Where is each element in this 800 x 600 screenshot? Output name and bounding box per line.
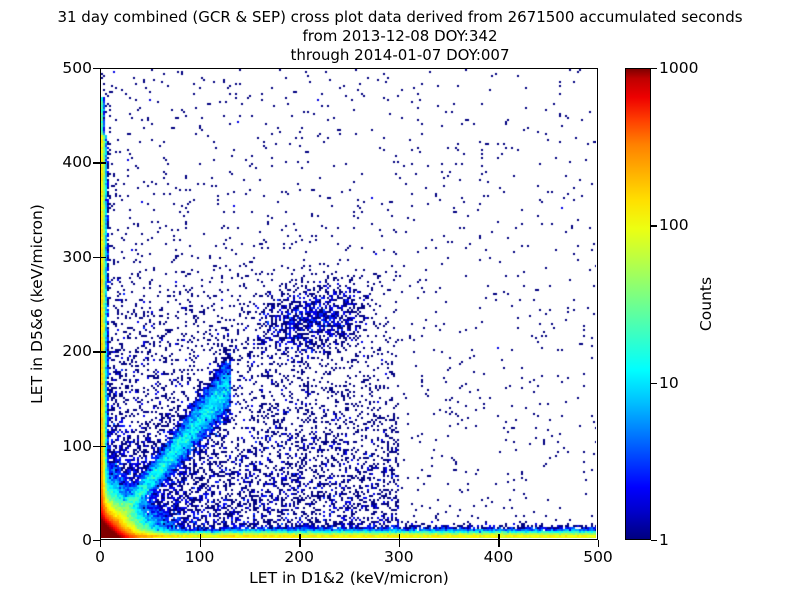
colorbar-tick-1 (651, 540, 657, 541)
y-tick-inner-300 (100, 257, 106, 258)
y-tick-label-300: 300 (62, 248, 92, 266)
x-tick-100 (200, 540, 201, 547)
scatter-density-canvas (101, 69, 596, 538)
colorbar-label-1000: 1000 (659, 59, 698, 77)
x-tick-500 (598, 540, 599, 547)
y-axis-title: LET in D5&6 (keV/micron) (28, 68, 50, 540)
colorbar-label-100: 100 (659, 216, 689, 234)
x-tick-inner-300 (399, 534, 400, 540)
x-tick-400 (498, 540, 499, 547)
chart-title: 31 day combined (GCR & SEP) cross plot d… (0, 8, 800, 65)
y-tick-label-400: 400 (62, 153, 92, 171)
y-tick-100 (93, 446, 100, 447)
colorbar-tick-100 (651, 225, 657, 226)
x-axis-title: LET in D1&2 (keV/micron) (100, 569, 598, 587)
colorbar (625, 68, 651, 540)
x-tick-label-500: 500 (583, 548, 613, 566)
x-tick-label-100: 100 (185, 548, 215, 566)
colorbar-label-1: 1 (659, 531, 669, 549)
x-tick-200 (299, 540, 300, 547)
x-tick-label-0: 0 (95, 548, 105, 566)
plot-area (100, 68, 598, 540)
y-tick-inner-100 (100, 446, 106, 447)
y-tick-label-200: 200 (62, 342, 92, 360)
colorbar-tick-10 (651, 383, 657, 384)
x-tick-0 (100, 540, 101, 547)
x-tick-label-300: 300 (384, 548, 414, 566)
chart-title-line-2: from 2013-12-08 DOY:342 (0, 27, 800, 46)
x-tick-inner-400 (498, 534, 499, 540)
y-tick-inner-400 (100, 162, 106, 163)
y-tick-inner-200 (100, 351, 106, 352)
colorbar-tick-1000 (651, 68, 657, 69)
y-tick-0 (93, 540, 100, 541)
colorbar-title: Counts (697, 68, 719, 540)
chart-title-line-1: 31 day combined (GCR & SEP) cross plot d… (0, 8, 800, 27)
y-tick-label-0: 0 (82, 531, 92, 549)
y-tick-500 (93, 68, 100, 69)
x-tick-300 (399, 540, 400, 547)
y-tick-400 (93, 162, 100, 163)
y-tick-label-100: 100 (62, 437, 92, 455)
x-tick-label-400: 400 (484, 548, 514, 566)
x-tick-inner-200 (299, 534, 300, 540)
y-tick-200 (93, 351, 100, 352)
figure: 31 day combined (GCR & SEP) cross plot d… (0, 0, 800, 600)
x-tick-label-200: 200 (284, 548, 314, 566)
x-tick-inner-100 (200, 534, 201, 540)
y-tick-label-500: 500 (62, 59, 92, 77)
colorbar-label-10: 10 (659, 374, 679, 392)
y-tick-300 (93, 257, 100, 258)
